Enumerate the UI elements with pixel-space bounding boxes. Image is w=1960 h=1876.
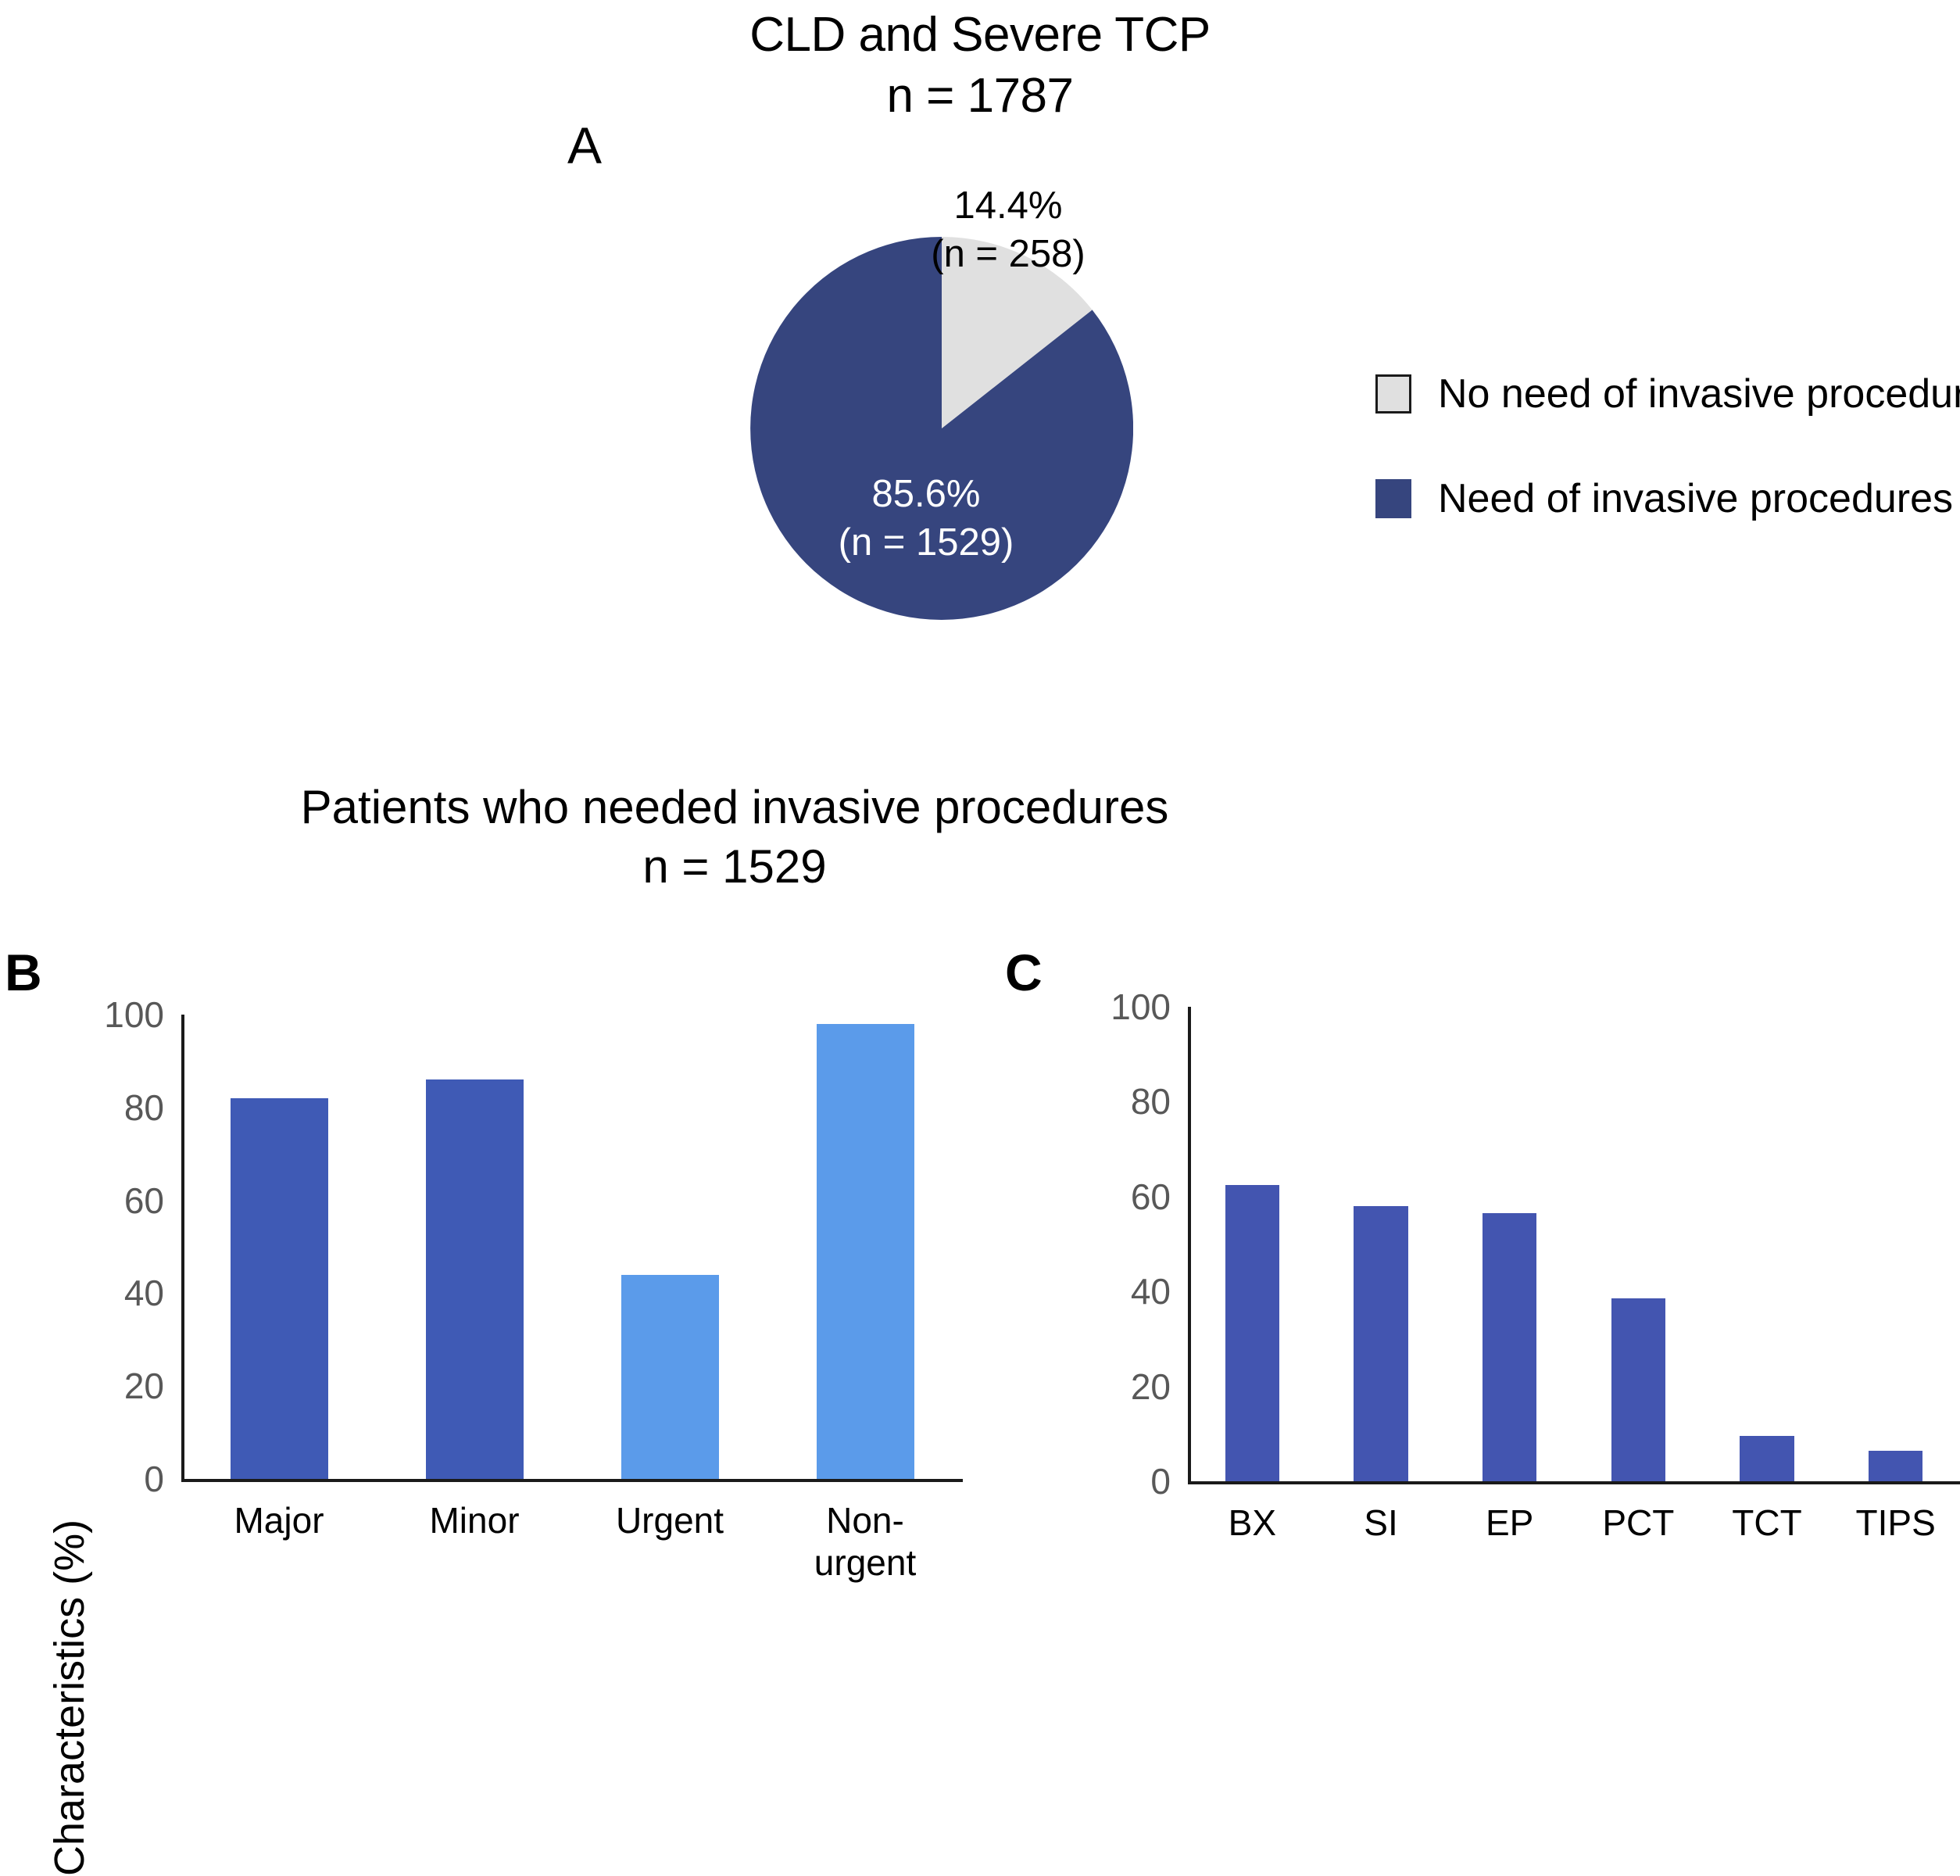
y-axis-tick-label: 60 <box>47 1180 164 1222</box>
x-axis-tick-label: BX <box>1229 1502 1276 1544</box>
bar[interactable] <box>1225 1185 1279 1481</box>
y-axis-line <box>181 1015 184 1479</box>
y-axis-tick-label: 40 <box>1053 1270 1171 1312</box>
title-line-1: CLD and Severe TCP <box>0 5 1960 66</box>
plot-area-b: 020406080100MajorMinorUrgentNon-urgent <box>181 1015 963 1479</box>
legend-swatch-need-icon <box>1375 479 1411 518</box>
plot-area-c: 020406080100BXSIEPPCTTCTTIPS <box>1188 1007 1960 1481</box>
subtitle-line-2: n = 1529 <box>0 837 1469 897</box>
pie-label-no-need-count: (n = 258) <box>883 230 1133 278</box>
y-axis-tick-label: 0 <box>1053 1460 1171 1502</box>
pie-label-no-need-percent: 14.4% <box>883 181 1133 230</box>
bar[interactable] <box>1483 1213 1536 1481</box>
y-axis-tick-label: 40 <box>47 1272 164 1314</box>
y-axis-tick-label: 80 <box>47 1087 164 1129</box>
y-axis-line <box>1188 1007 1191 1481</box>
y-axis-tick-label: 20 <box>47 1365 164 1407</box>
x-axis-tick-label: Minor <box>429 1499 519 1541</box>
pie-label-need: 85.6% (n = 1529) <box>778 470 1075 567</box>
legend-swatch-no-need-icon <box>1375 374 1411 414</box>
bar[interactable] <box>1354 1206 1407 1481</box>
legend-label-no-need: No need of invasive procedures <box>1438 371 1960 417</box>
legend-label-need: Need of invasive procedures <box>1438 475 1953 522</box>
bar[interactable] <box>621 1275 719 1479</box>
legend-item-no-need[interactable]: No need of invasive procedures <box>1375 372 1960 416</box>
figure-title: CLD and Severe TCP n = 1787 <box>0 5 1960 127</box>
x-axis-line <box>181 1479 963 1482</box>
subtitle-line-1: Patients who needed invasive procedures <box>0 778 1469 837</box>
title-line-2: n = 1787 <box>0 66 1960 127</box>
y-axis-tick-label: 100 <box>47 993 164 1036</box>
bar[interactable] <box>1611 1298 1665 1481</box>
y-axis-tick-label: 80 <box>1053 1080 1171 1122</box>
y-axis-title-b: Characteristics (%) <box>45 1520 94 1876</box>
panel-label-a: A <box>567 116 602 175</box>
x-axis-tick-label: Non-urgent <box>814 1499 916 1584</box>
figure-subtitle: Patients who needed invasive procedures … <box>0 778 1469 897</box>
pie-label-need-count: (n = 1529) <box>778 518 1075 567</box>
x-axis-line <box>1188 1481 1960 1484</box>
bar-chart-panel-c: Type (%) 020406080100BXSIEPPCTTCTTIPS <box>1000 969 1960 1532</box>
bar[interactable] <box>1869 1451 1922 1481</box>
y-axis-tick-label: 20 <box>1053 1366 1171 1408</box>
x-axis-tick-label: EP <box>1486 1502 1533 1544</box>
bar-chart-panel-b: Characteristics (%) 020406080100MajorMin… <box>0 969 977 1532</box>
y-axis-tick-label: 0 <box>47 1458 164 1500</box>
x-axis-tick-label: Urgent <box>616 1499 724 1541</box>
bar[interactable] <box>817 1024 914 1479</box>
x-axis-tick-label: Major <box>234 1499 324 1541</box>
pie-label-need-percent: 85.6% <box>778 470 1075 518</box>
bar[interactable] <box>1740 1436 1794 1481</box>
x-axis-tick-label: TCT <box>1732 1502 1801 1544</box>
bar[interactable] <box>231 1098 328 1479</box>
pie-label-no-need: 14.4% (n = 258) <box>883 181 1133 278</box>
pie-legend: No need of invasive procedures Need of i… <box>1375 372 1960 582</box>
x-axis-tick-label: SI <box>1364 1502 1397 1544</box>
x-axis-tick-label: PCT <box>1602 1502 1674 1544</box>
y-axis-tick-label: 60 <box>1053 1176 1171 1218</box>
bar[interactable] <box>426 1079 524 1479</box>
y-axis-tick-label: 100 <box>1053 986 1171 1028</box>
x-axis-tick-label: TIPS <box>1856 1502 1936 1544</box>
legend-item-need[interactable]: Need of invasive procedures <box>1375 477 1960 521</box>
